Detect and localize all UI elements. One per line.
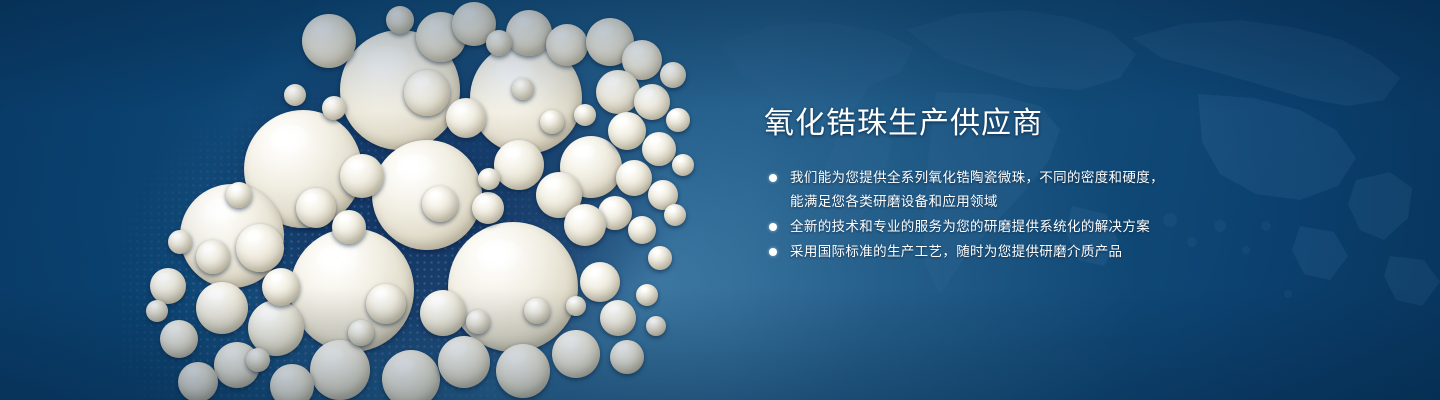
list-item: 全新的技术和专业的服务为您的研磨提供系统化的解决方案 [762,215,1382,239]
list-item-line1: 我们能为您提供全系列氧化锆陶瓷微珠，不同的密度和硬度， [790,170,1164,185]
page-title: 氧化锆珠生产供应商 [764,104,1382,144]
list-item: 我们能为您提供全系列氧化锆陶瓷微珠，不同的密度和硬度， 能满足您各类研磨设备和应… [762,166,1382,214]
list-item-line2: 能满足您各类研磨设备和应用领域 [790,190,1382,214]
banner-content: 氧化锆珠生产供应商 我们能为您提供全系列氧化锆陶瓷微珠，不同的密度和硬度， 能满… [762,104,1382,265]
bullet-dot-icon [769,248,777,256]
bullet-dot-icon [769,223,777,231]
list-item-line1: 全新的技术和专业的服务为您的研磨提供系统化的解决方案 [790,219,1150,234]
list-item: 采用国际标准的生产工艺，随时为您提供研磨介质产品 [762,240,1382,264]
feature-list: 我们能为您提供全系列氧化锆陶瓷微珠，不同的密度和硬度， 能满足您各类研磨设备和应… [762,166,1382,264]
bullet-dot-icon [769,174,777,182]
hero-banner: 氧化锆珠生产供应商 我们能为您提供全系列氧化锆陶瓷微珠，不同的密度和硬度， 能满… [0,0,1440,400]
list-item-line1: 采用国际标准的生产工艺，随时为您提供研磨介质产品 [790,244,1122,259]
